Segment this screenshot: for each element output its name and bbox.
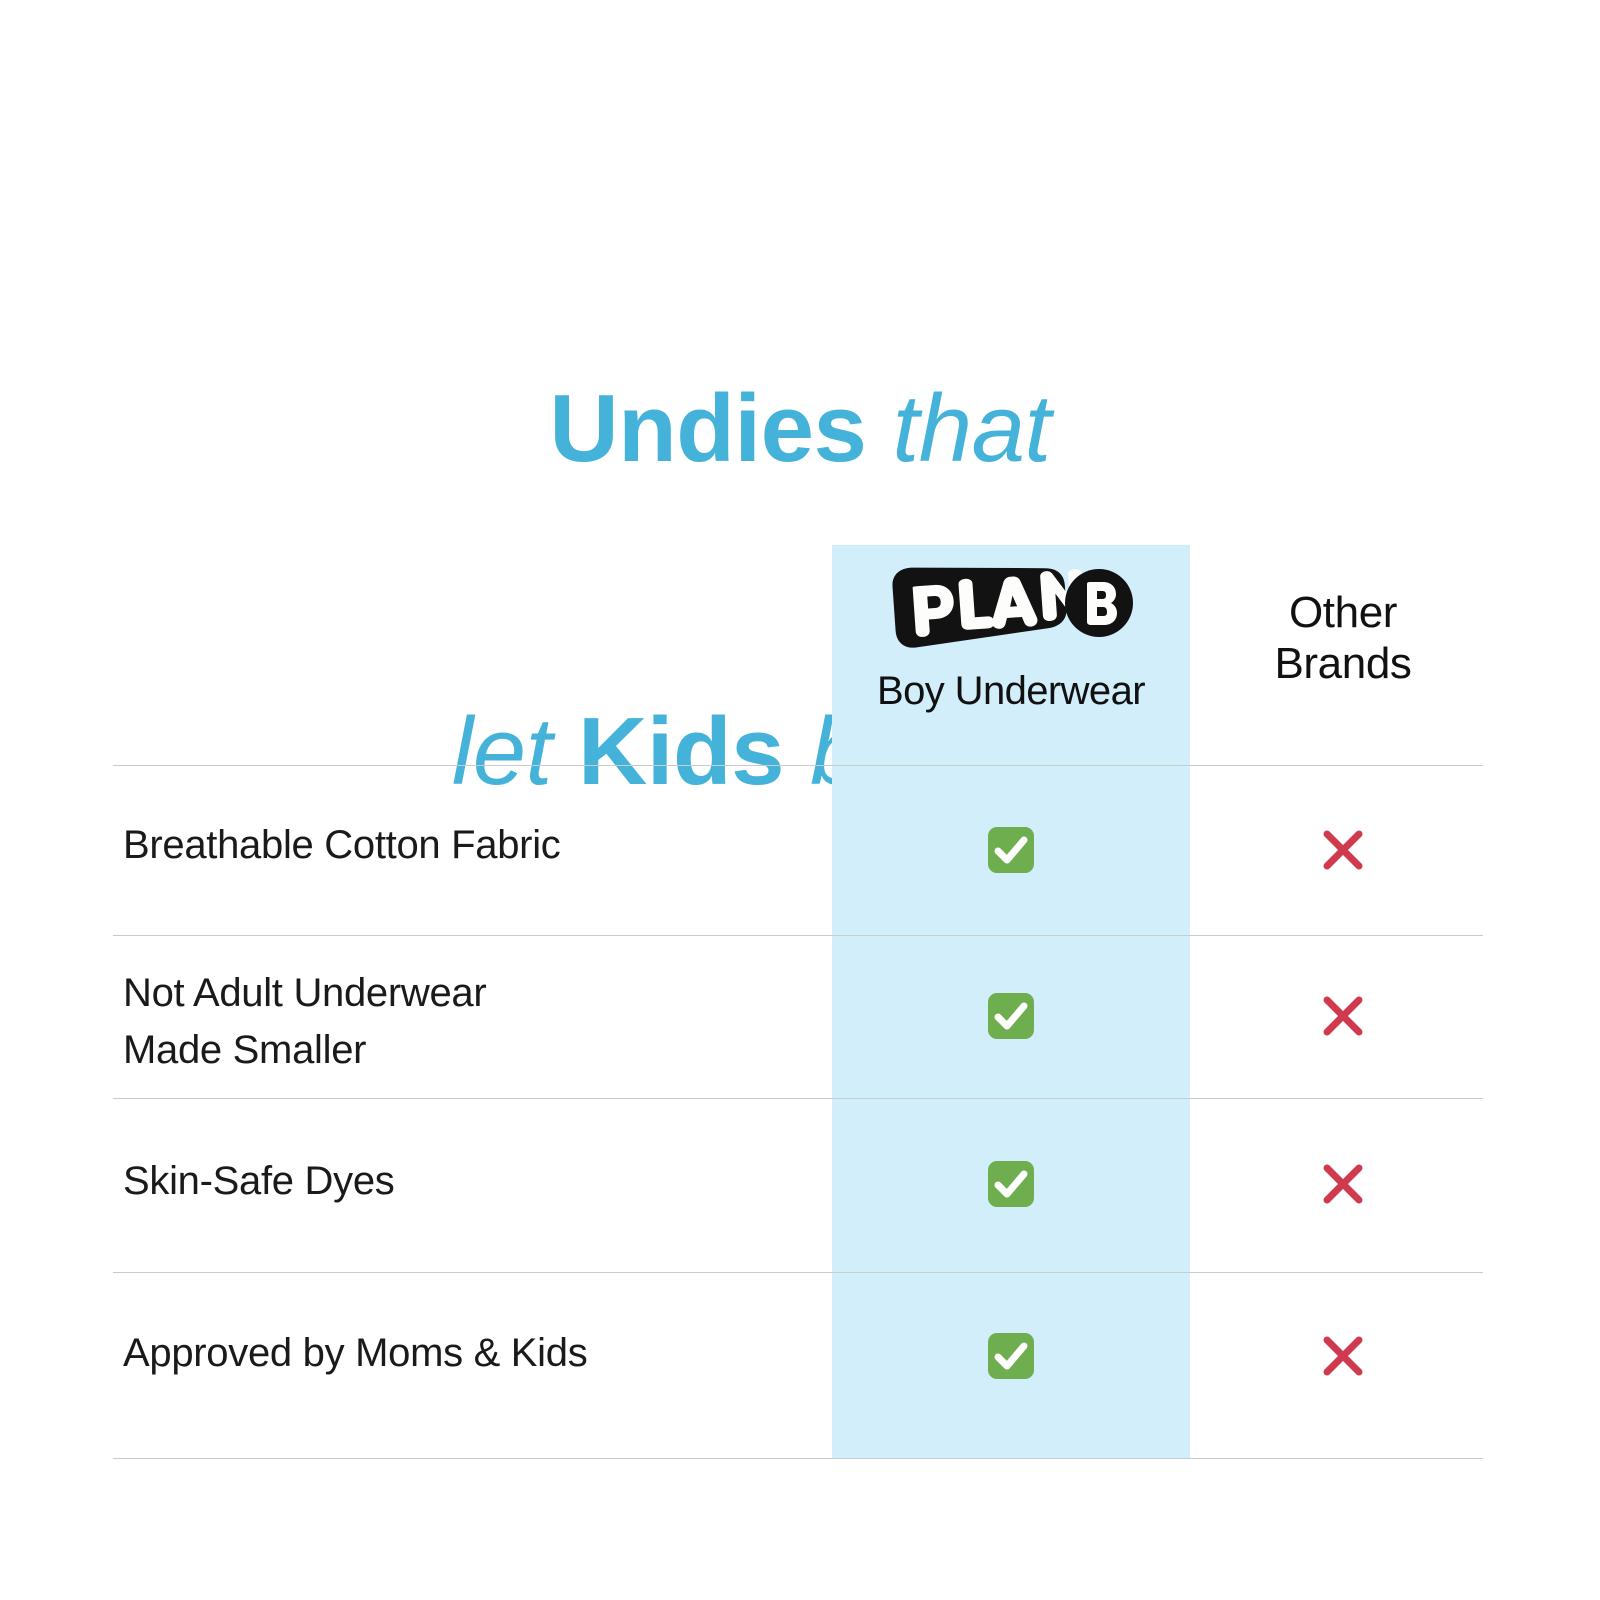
column-header-plan-b-subtitle: Boy Underwear bbox=[877, 669, 1145, 714]
row-label: Not Adult Underwear Made Smaller bbox=[123, 965, 823, 1079]
column-header-other-brands-line-1: Other bbox=[1289, 587, 1397, 638]
cell-other-brands bbox=[1203, 1323, 1483, 1389]
cell-plan-b bbox=[832, 817, 1190, 883]
check-icon bbox=[986, 1159, 1036, 1209]
row-divider-bottom bbox=[113, 1458, 1483, 1459]
cross-icon bbox=[1316, 823, 1370, 877]
table-row: Breathable Cotton Fabric bbox=[113, 765, 1483, 935]
plan-b-logo-svg bbox=[888, 559, 1134, 651]
row-label: Skin-Safe Dyes bbox=[123, 1153, 823, 1210]
cell-other-brands bbox=[1203, 817, 1483, 883]
table-row: Not Adult Underwear Made Smaller bbox=[113, 935, 1483, 1098]
cell-plan-b bbox=[832, 1323, 1190, 1389]
check-icon bbox=[986, 1331, 1036, 1381]
table-header-row: Boy Underwear Other Brands bbox=[113, 535, 1483, 765]
cell-plan-b bbox=[832, 983, 1190, 1049]
table-row: Approved by Moms & Kids bbox=[113, 1272, 1483, 1458]
row-label: Breathable Cotton Fabric bbox=[123, 817, 823, 874]
plan-b-logo bbox=[888, 559, 1134, 651]
page-title-word-that: that bbox=[893, 375, 1051, 482]
page-title-word-undies: Undies bbox=[549, 375, 866, 482]
check-icon bbox=[986, 991, 1036, 1041]
row-label: Approved by Moms & Kids bbox=[123, 1325, 823, 1382]
cross-icon bbox=[1316, 1157, 1370, 1211]
column-header-other-brands: Other Brands bbox=[1203, 535, 1483, 765]
table-grid: Boy Underwear Other Brands Breathable Co… bbox=[113, 535, 1483, 1460]
check-icon bbox=[986, 825, 1036, 875]
comparison-table: Boy Underwear Other Brands Breathable Co… bbox=[113, 535, 1483, 1460]
page-title-line-1: Undies that bbox=[0, 375, 1600, 483]
cross-icon bbox=[1316, 989, 1370, 1043]
table-row: Skin-Safe Dyes bbox=[113, 1098, 1483, 1272]
column-header-plan-b: Boy Underwear bbox=[832, 535, 1190, 765]
cross-icon bbox=[1316, 1329, 1370, 1383]
cell-plan-b bbox=[832, 1151, 1190, 1217]
column-header-other-brands-line-2: Brands bbox=[1274, 638, 1411, 689]
cell-other-brands bbox=[1203, 1151, 1483, 1217]
cell-other-brands bbox=[1203, 983, 1483, 1049]
